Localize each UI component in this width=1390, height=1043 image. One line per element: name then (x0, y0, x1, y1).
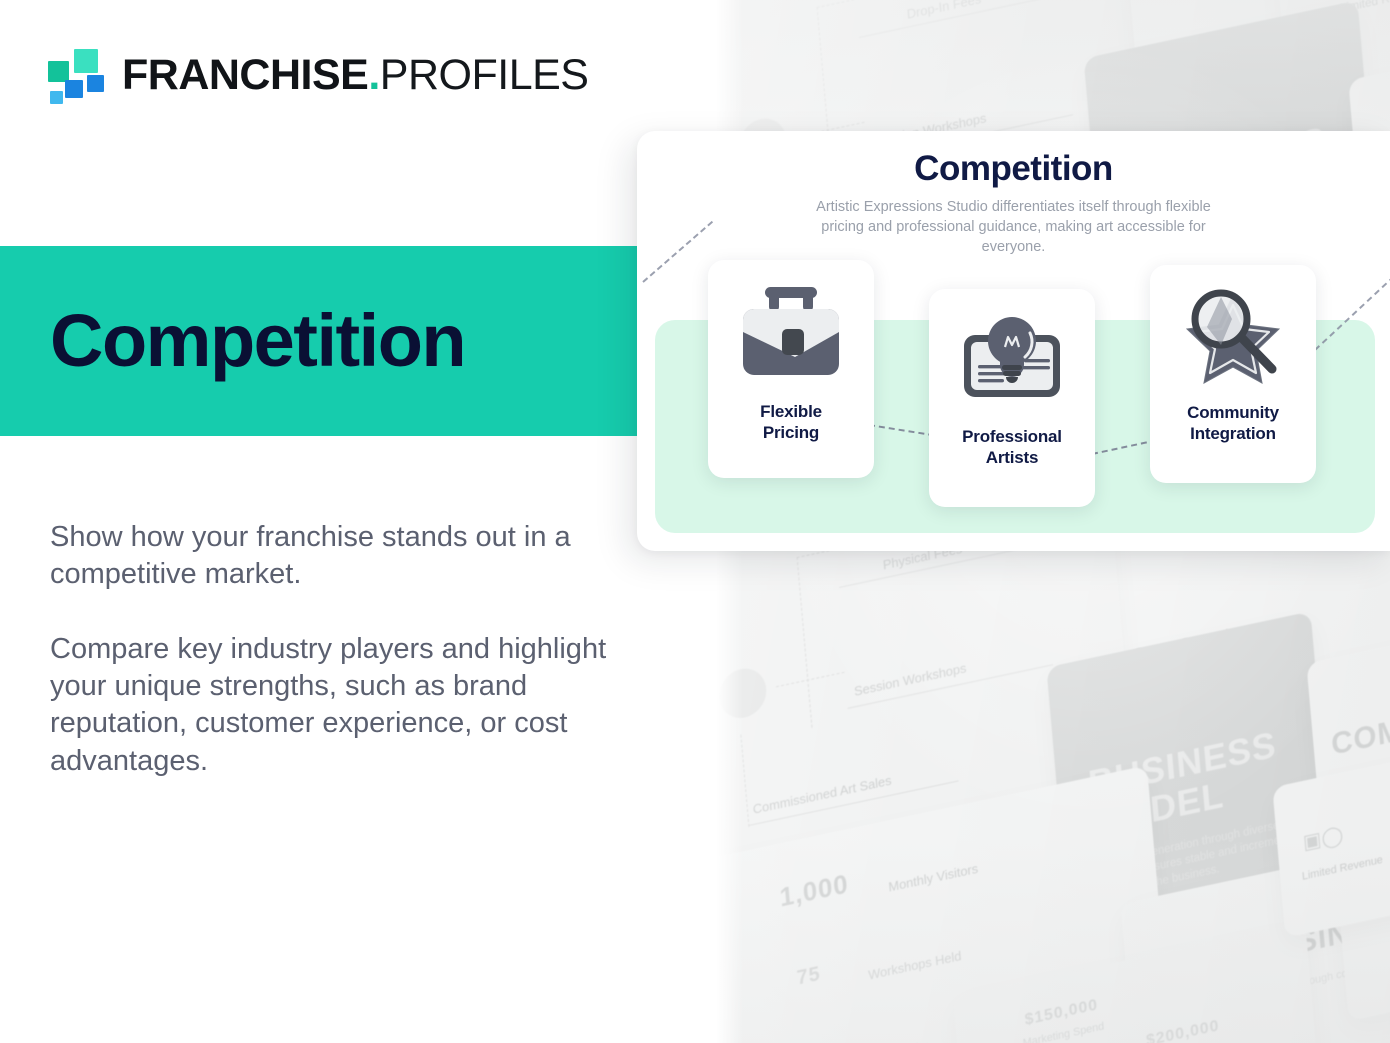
brand-wordmark: FRANCHISE.PROFILES (122, 54, 588, 97)
feature-label: Flexible Pricing (752, 402, 830, 443)
connector-dashed-left (642, 221, 713, 283)
description-paragraph-2: Compare key industry players and highlig… (50, 631, 615, 779)
feature-label: Community Integration (1179, 403, 1287, 444)
brand-name-bold: FRANCHISE (122, 54, 368, 97)
preview-slide-card: Competition Artistic Expressions Studio … (637, 131, 1390, 551)
feature-label-line1: Professional (962, 427, 1062, 446)
logo-squares-icon (48, 47, 104, 103)
slide-title: Competition (637, 149, 1390, 189)
feature-label-line2: Artists (986, 448, 1038, 467)
feature-label: Professional Artists (954, 427, 1070, 468)
slide-canvas: Drop-In Fees Session Workshops Commissio… (0, 0, 1390, 1043)
slide-subtitle: Artistic Expressions Studio differentiat… (814, 197, 1214, 257)
feature-card-flexible-pricing[interactable]: Flexible Pricing (708, 260, 874, 478)
briefcase-icon (732, 274, 850, 394)
lightbulb-certificate-icon (953, 299, 1071, 419)
feature-card-community-integration[interactable]: Community Integration (1150, 265, 1316, 483)
page-title: Competition (50, 304, 465, 378)
feature-label-line1: Flexible (760, 402, 822, 421)
feature-label-line1: Community (1187, 403, 1279, 422)
magnifier-star-icon (1174, 277, 1292, 397)
brand-name-dot: . (368, 54, 379, 97)
feature-card-professional-artists[interactable]: Professional Artists (929, 289, 1095, 507)
brand-logo[interactable]: FRANCHISE.PROFILES (48, 44, 588, 106)
brand-name-light: PROFILES (380, 54, 589, 97)
description-paragraph-1: Show how your franchise stands out in a … (50, 519, 615, 593)
feature-label-line2: Integration (1190, 424, 1276, 443)
description-block: Show how your franchise stands out in a … (50, 519, 615, 780)
feature-label-line2: Pricing (763, 423, 819, 442)
